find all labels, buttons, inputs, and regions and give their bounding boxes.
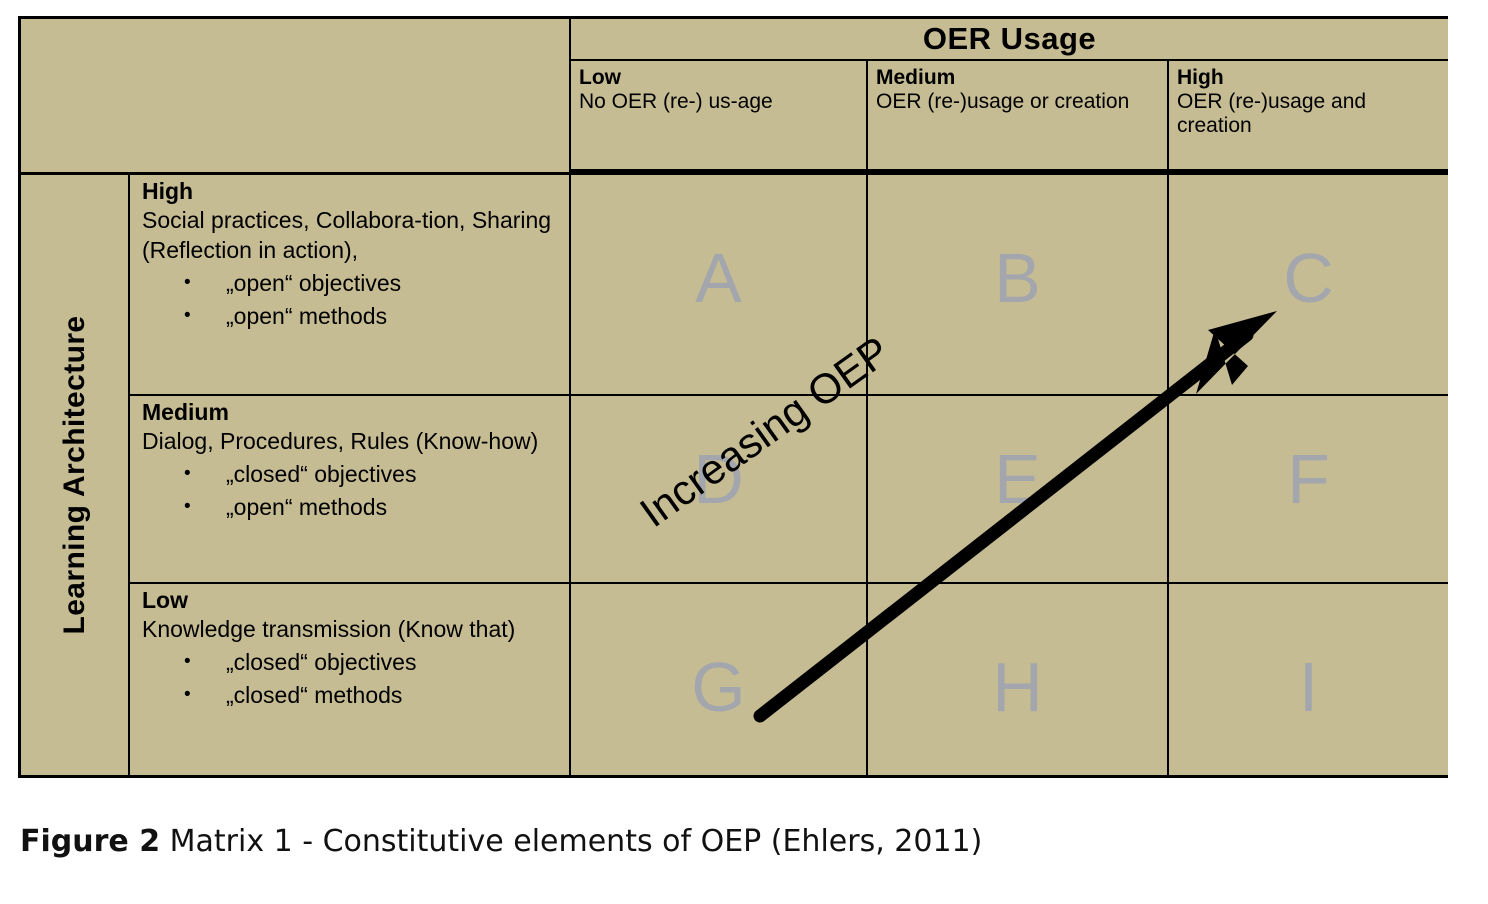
list-item: „closed“ methods [226,679,563,712]
row-header-medium-bullets: „closed“ objectives „open“ methods [142,458,563,524]
matrix-cell-i: I [1167,582,1448,775]
column-header-low: Low No OER (re-) us-age [569,61,866,172]
row-header-high-level: High [142,177,563,205]
column-header-high-description: OER (re-)usage and creation [1177,90,1442,138]
list-item: „open“ methods [226,300,563,333]
matrix-cell-g: G [569,582,866,775]
matrix-cell-e-label: E [994,444,1041,514]
row-header-low: Low Knowledge transmission (Know that) „… [128,582,569,775]
matrix-cell-c-label: C [1283,243,1334,313]
matrix-cell-c: C [1167,172,1448,394]
row-header-low-bullets: „closed“ objectives „closed“ methods [142,646,563,712]
figure-number: Figure 2 [20,824,160,859]
matrix-cell-f: F [1167,394,1448,582]
matrix-cell-b-label: B [994,243,1041,313]
column-header-medium-description: OER (re-)usage or creation [876,90,1161,114]
matrix-cell-a-label: A [695,243,742,313]
matrix-cell-e: E [866,394,1167,582]
oep-matrix-table: OER Usage Low No OER (re-) us-age Medium… [18,16,1448,778]
figure-container: OER Usage Low No OER (re-) us-age Medium… [0,0,1488,904]
column-header-medium-level: Medium [876,65,1161,90]
matrix-cell-g-label: G [691,652,745,722]
matrix-cell-b: B [866,172,1167,394]
row-axis-title: Learning Architecture [58,315,92,634]
row-header-high-description: Social practices, Collabora-tion, Sharin… [142,205,563,265]
figure-caption: Figure 2 Matrix 1 - Constitutive element… [20,824,982,859]
column-header-low-level: Low [579,65,860,90]
matrix-cell-f-label: F [1287,444,1330,514]
row-axis-header: Learning Architecture [21,172,128,775]
figure-caption-text: Matrix 1 - Constitutive elements of OEP … [160,824,982,859]
matrix-cell-h-label: H [992,652,1043,722]
row-header-high-bullets: „open“ objectives „open“ methods [142,267,563,333]
column-header-high-level: High [1177,65,1442,90]
column-header-high: High OER (re-)usage and creation [1167,61,1448,172]
column-header-medium: Medium OER (re-)usage or creation [866,61,1167,172]
row-header-high: High Social practices, Collabora-tion, S… [128,172,569,394]
list-item: „closed“ objectives [226,646,563,679]
row-header-low-description: Knowledge transmission (Know that) [142,614,563,644]
table-corner-blank [21,19,569,172]
column-axis-header: OER Usage [569,19,1448,61]
list-item: „open“ methods [226,491,563,524]
column-axis-title: OER Usage [923,21,1096,57]
list-item: „closed“ objectives [226,458,563,491]
list-item: „open“ objectives [226,267,563,300]
row-header-low-level: Low [142,586,563,614]
matrix-cell-i-label: I [1299,652,1318,722]
matrix-cell-h: H [866,582,1167,775]
column-header-low-description: No OER (re-) us-age [579,90,860,114]
row-header-medium-level: Medium [142,398,563,426]
row-header-medium-description: Dialog, Procedures, Rules (Know-how) [142,426,563,456]
row-header-medium: Medium Dialog, Procedures, Rules (Know-h… [128,394,569,582]
